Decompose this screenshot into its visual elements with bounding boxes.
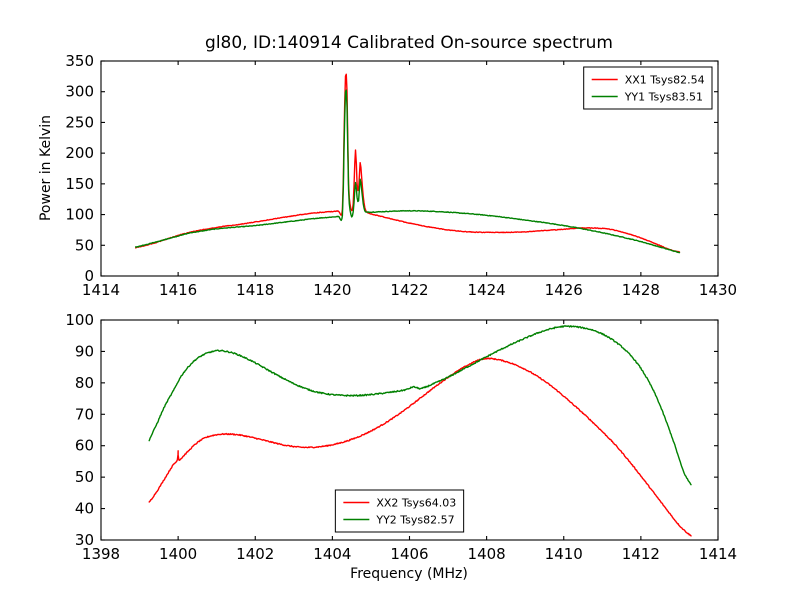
- y-tick-label: 100: [65, 206, 94, 224]
- x-tick-label: 1414: [699, 545, 737, 563]
- y-tick-label: 100: [65, 311, 94, 329]
- x-tick-label: 1400: [159, 545, 197, 563]
- legend-label: XX1 Tsys82.54: [625, 74, 705, 87]
- upper-y-axis-label: Power in Kelvin: [38, 115, 54, 221]
- x-tick-label: 1408: [468, 545, 506, 563]
- legend-label: YY2 Tsys82.57: [375, 514, 454, 527]
- y-tick-label: 40: [75, 500, 94, 518]
- x-tick-label: 1424: [468, 281, 506, 299]
- x-tick-label: 1430: [699, 281, 737, 299]
- x-axis-label: Frequency (MHz): [350, 566, 468, 582]
- y-tick-label: 250: [65, 113, 94, 131]
- upper-panel-legend[interactable]: XX1 Tsys82.54YY1 Tsys83.51: [584, 67, 712, 109]
- lower-panel-legend[interactable]: XX2 Tsys64.03YY2 Tsys82.57: [335, 490, 463, 532]
- y-tick-label: 70: [75, 405, 94, 423]
- y-tick-label: 30: [75, 531, 94, 549]
- x-tick-label: 1404: [313, 545, 351, 563]
- y-tick-label: 350: [65, 52, 94, 70]
- x-tick-label: 1426: [545, 281, 583, 299]
- x-tick-label: 1416: [159, 281, 197, 299]
- x-tick-label: 1418: [236, 281, 274, 299]
- legend-label: XX2 Tsys64.03: [376, 497, 456, 510]
- legend-label: YY1 Tsys83.51: [624, 91, 703, 104]
- x-tick-label: 1412: [622, 545, 660, 563]
- y-tick-label: 80: [75, 374, 94, 392]
- x-tick-label: 1406: [390, 545, 428, 563]
- y-tick-label: 60: [75, 437, 94, 455]
- y-tick-label: 0: [84, 267, 94, 285]
- figure-title: gl80, ID:140914 Calibrated On-source spe…: [205, 33, 613, 53]
- y-tick-label: 150: [65, 175, 94, 193]
- y-tick-label: 50: [75, 468, 94, 486]
- y-tick-label: 50: [75, 236, 94, 254]
- y-tick-label: 90: [75, 342, 94, 360]
- x-tick-label: 1410: [545, 545, 583, 563]
- y-tick-label: 300: [65, 83, 94, 101]
- x-tick-label: 1428: [622, 281, 660, 299]
- x-tick-label: 1420: [313, 281, 351, 299]
- spectrum-figure: gl80, ID:140914 Calibrated On-source spe…: [0, 0, 800, 600]
- y-tick-label: 200: [65, 144, 94, 162]
- x-tick-label: 1402: [236, 545, 274, 563]
- figure-canvas: gl80, ID:140914 Calibrated On-source spe…: [0, 0, 800, 600]
- x-tick-label: 1422: [390, 281, 428, 299]
